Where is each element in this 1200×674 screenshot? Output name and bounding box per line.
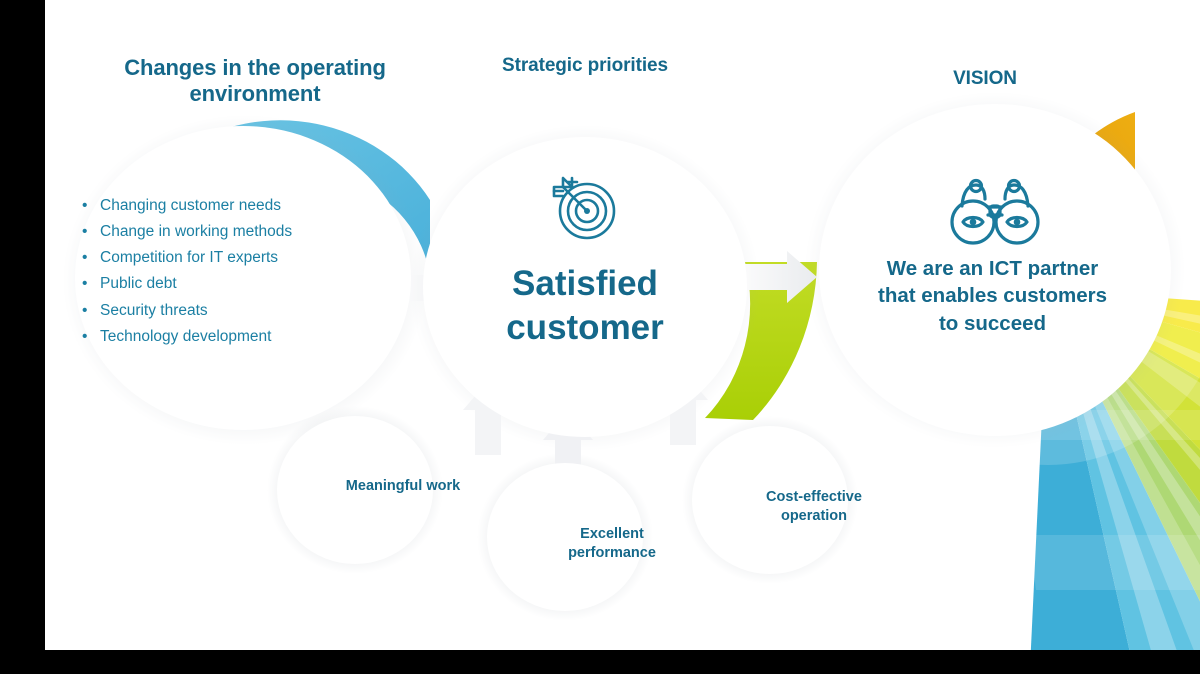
- list-item-label: Security threats: [100, 301, 382, 321]
- list-item[interactable]: • Changing customer needs: [82, 196, 382, 216]
- center-label-line-1: Satisfied: [465, 262, 705, 306]
- list-item-label: Public debt: [100, 274, 382, 294]
- vision-label-line-3: to succeed: [840, 310, 1145, 337]
- vision-label-line-1: We are an ICT partner: [840, 255, 1145, 282]
- bullet-icon: •: [82, 222, 100, 242]
- sc3-label-line-1: Cost-effective: [729, 488, 899, 507]
- small-circle-label-cost-effective-operation: Cost-effective operation: [729, 488, 899, 525]
- center-circle-label: Satisfied customer: [465, 262, 705, 350]
- list-item[interactable]: • Change in working methods: [82, 222, 382, 242]
- small-circle-label-meaningful-work: Meaningful work: [308, 478, 498, 494]
- bullet-icon: •: [82, 196, 100, 216]
- list-item[interactable]: • Security threats: [82, 301, 382, 321]
- center-label-line-2: customer: [465, 306, 705, 350]
- header-right: VISION: [865, 68, 1105, 90]
- slide-canvas: Changes in the operating environment Str…: [45, 0, 1200, 650]
- bullet-icon: •: [82, 248, 100, 268]
- sc2-label-line-2: performance: [522, 544, 702, 563]
- list-item-label: Competition for IT experts: [100, 248, 382, 268]
- list-item[interactable]: • Competition for IT experts: [82, 248, 382, 268]
- operating-environment-bullet-list: • Changing customer needs • Change in wo…: [82, 196, 382, 353]
- list-item-label: Change in working methods: [100, 222, 382, 242]
- list-item[interactable]: • Public debt: [82, 274, 382, 294]
- list-item-label: Technology development: [100, 327, 382, 347]
- vision-circle-label: We are an ICT partner that enables custo…: [840, 255, 1145, 337]
- bullet-icon: •: [82, 301, 100, 321]
- bullet-icon: •: [82, 274, 100, 294]
- header-middle: Strategic priorities: [465, 55, 705, 77]
- list-item[interactable]: • Technology development: [82, 327, 382, 347]
- sc3-label-line-2: operation: [729, 507, 899, 526]
- small-circle-label-excellent-performance: Excellent performance: [522, 525, 702, 562]
- vision-label-line-2: that enables customers: [840, 282, 1145, 309]
- bullet-icon: •: [82, 327, 100, 347]
- sc2-label-line-1: Excellent: [522, 525, 702, 544]
- header-left: Changes in the operating environment: [100, 55, 410, 107]
- list-item-label: Changing customer needs: [100, 196, 382, 216]
